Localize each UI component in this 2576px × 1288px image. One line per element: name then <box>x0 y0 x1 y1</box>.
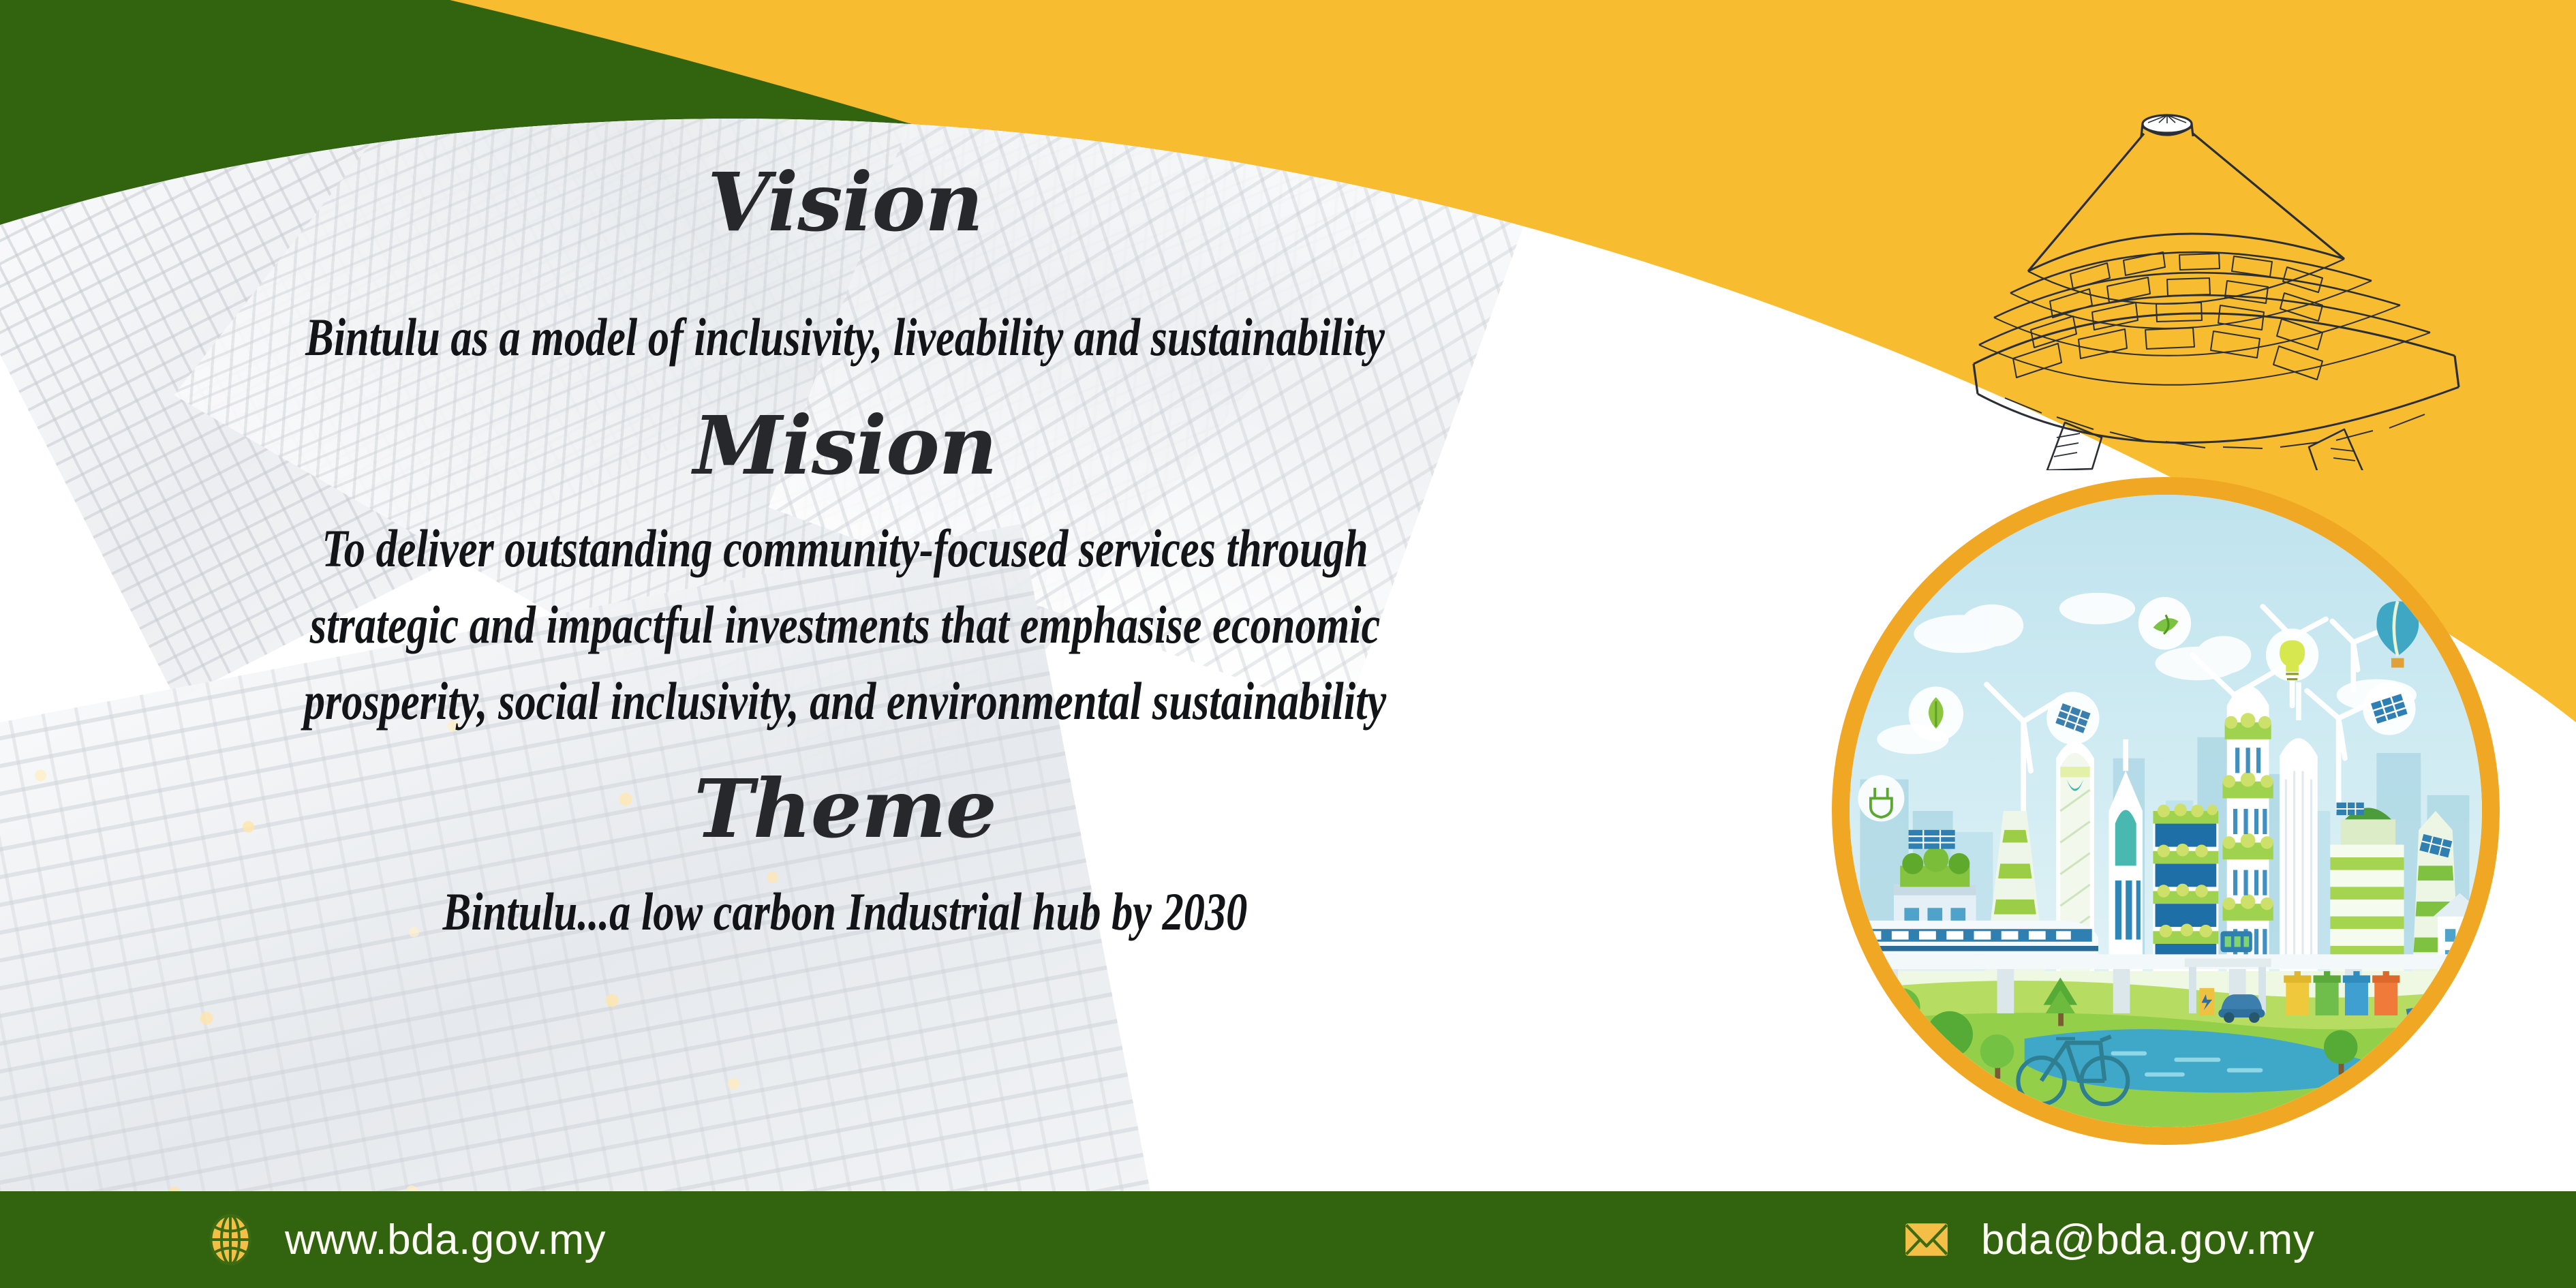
website-label: www.bda.gov.my <box>285 1216 606 1264</box>
theme-text: Bintulu...a low carbon Industrial hub by… <box>169 885 1521 939</box>
vision-text: Bintulu as a model of inclusivity, livea… <box>169 310 1521 365</box>
mission-heading: Mision <box>0 405 1690 486</box>
vision-heading: Vision <box>0 162 1690 243</box>
footer-email[interactable]: bda@bda.gov.my <box>1901 1214 2314 1266</box>
bda-vision-mission-banner: Vision Bintulu as a model of inclusivity… <box>0 0 2576 1288</box>
envelope-icon <box>1901 1214 1952 1266</box>
theme-heading: Theme <box>0 769 1690 849</box>
globe-icon <box>204 1214 256 1266</box>
footer-bar: www.bda.gov.my bda@bda.gov.my <box>0 1191 2576 1288</box>
mission-text-line: prosperity, social inclusivity, and envi… <box>169 674 1521 729</box>
mission-text-line: strategic and impactful investments that… <box>169 598 1521 652</box>
dome-building-illustration <box>1963 89 2562 470</box>
city-illustration-circle <box>1832 477 2500 1145</box>
email-label: bda@bda.gov.my <box>1981 1216 2314 1264</box>
footer-website[interactable]: www.bda.gov.my <box>204 1214 606 1266</box>
mission-text-line: To deliver outstanding community-focused… <box>169 521 1521 576</box>
